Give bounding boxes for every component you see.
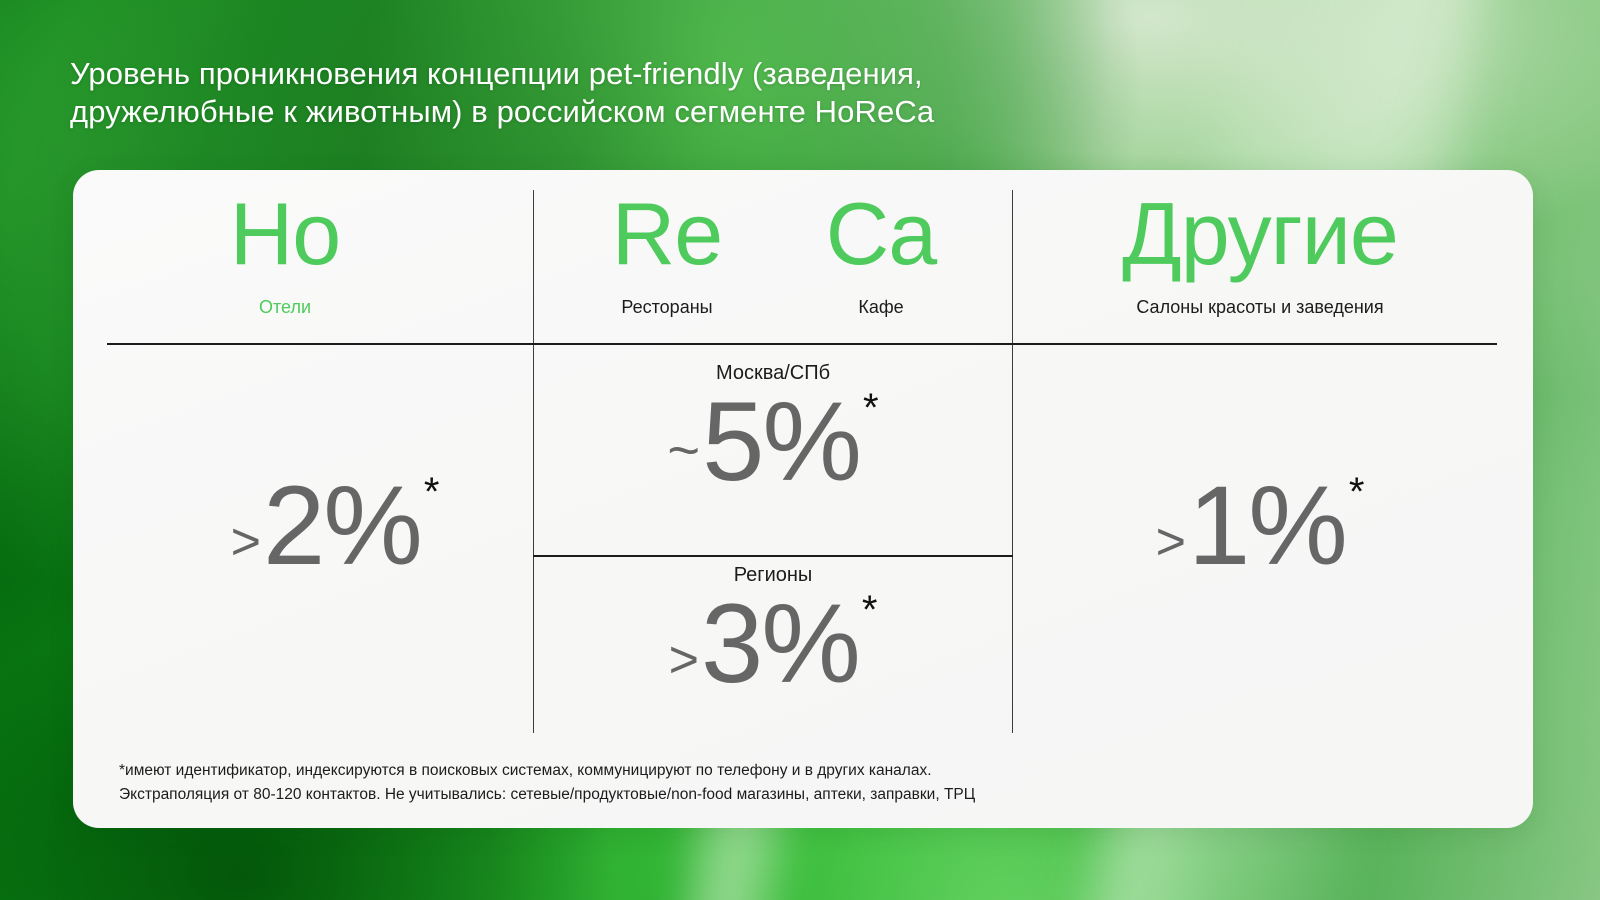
value-other-footnote-marker: *: [1349, 472, 1365, 512]
header-cell-other: Другие Салоны красоты и заведения: [1024, 186, 1496, 318]
header-cell-cafes: Ca Кафе: [763, 186, 999, 318]
value-cell-regions: Регионы > 3% *: [533, 562, 1013, 700]
value-hotels-number: 2%: [263, 470, 421, 582]
value-other-number: 1%: [1188, 470, 1346, 582]
value-cell-other: > 1% *: [1024, 470, 1496, 582]
value-moscow-spb: ~ 5% *: [667, 386, 878, 498]
caption-restaurants: Рестораны: [549, 296, 785, 318]
value-moscow-spb-footnote-marker: *: [863, 388, 879, 428]
value-other: > 1% *: [1156, 470, 1365, 582]
footnote-line-1: *имеют идентификатор, индексируются в по…: [119, 759, 1459, 783]
symbol-other: Другие: [1024, 186, 1496, 282]
value-hotels: > 2% *: [231, 470, 440, 582]
header-cell-restaurants: Re Рестораны: [549, 186, 785, 318]
caption-cafes: Кафе: [763, 296, 999, 318]
header-cell-hotels: Ho Отели: [167, 186, 403, 318]
page-title: Уровень проникновения концепции pet-frie…: [70, 55, 1310, 131]
page-title-line-1: Уровень проникновения концепции pet-frie…: [70, 55, 1310, 93]
symbol-ca: Ca: [763, 186, 999, 282]
stats-card: Ho Отели Re Рестораны Ca Кафе Другие Сал…: [73, 170, 1533, 828]
footnote-line-2: Экстраполяция от 80-120 контактов. Не уч…: [119, 783, 1459, 807]
value-hotels-footnote-marker: *: [424, 472, 440, 512]
value-cell-moscow-spb: Москва/СПб ~ 5% *: [533, 360, 1013, 498]
value-moscow-spb-number: 5%: [702, 386, 860, 498]
page-title-line-2: дружелюбные к животным) в российском сег…: [70, 93, 1310, 131]
value-moscow-spb-prefix: ~: [667, 422, 700, 478]
caption-other: Салоны красоты и заведения: [1024, 296, 1496, 318]
value-other-prefix: >: [1156, 516, 1186, 568]
footnote: *имеют идентификатор, индексируются в по…: [119, 759, 1459, 807]
value-regions-footnote-marker: *: [862, 590, 878, 630]
symbol-ho: Ho: [167, 186, 403, 282]
value-regions: > 3% *: [669, 588, 878, 700]
value-regions-prefix: >: [669, 634, 699, 686]
middle-row-divider: [533, 555, 1013, 557]
caption-hotels: Отели: [167, 296, 403, 318]
header-divider: [107, 343, 1497, 345]
value-cell-hotels: > 2% *: [167, 470, 503, 582]
value-hotels-prefix: >: [231, 516, 261, 568]
symbol-re: Re: [549, 186, 785, 282]
value-regions-number: 3%: [701, 588, 859, 700]
